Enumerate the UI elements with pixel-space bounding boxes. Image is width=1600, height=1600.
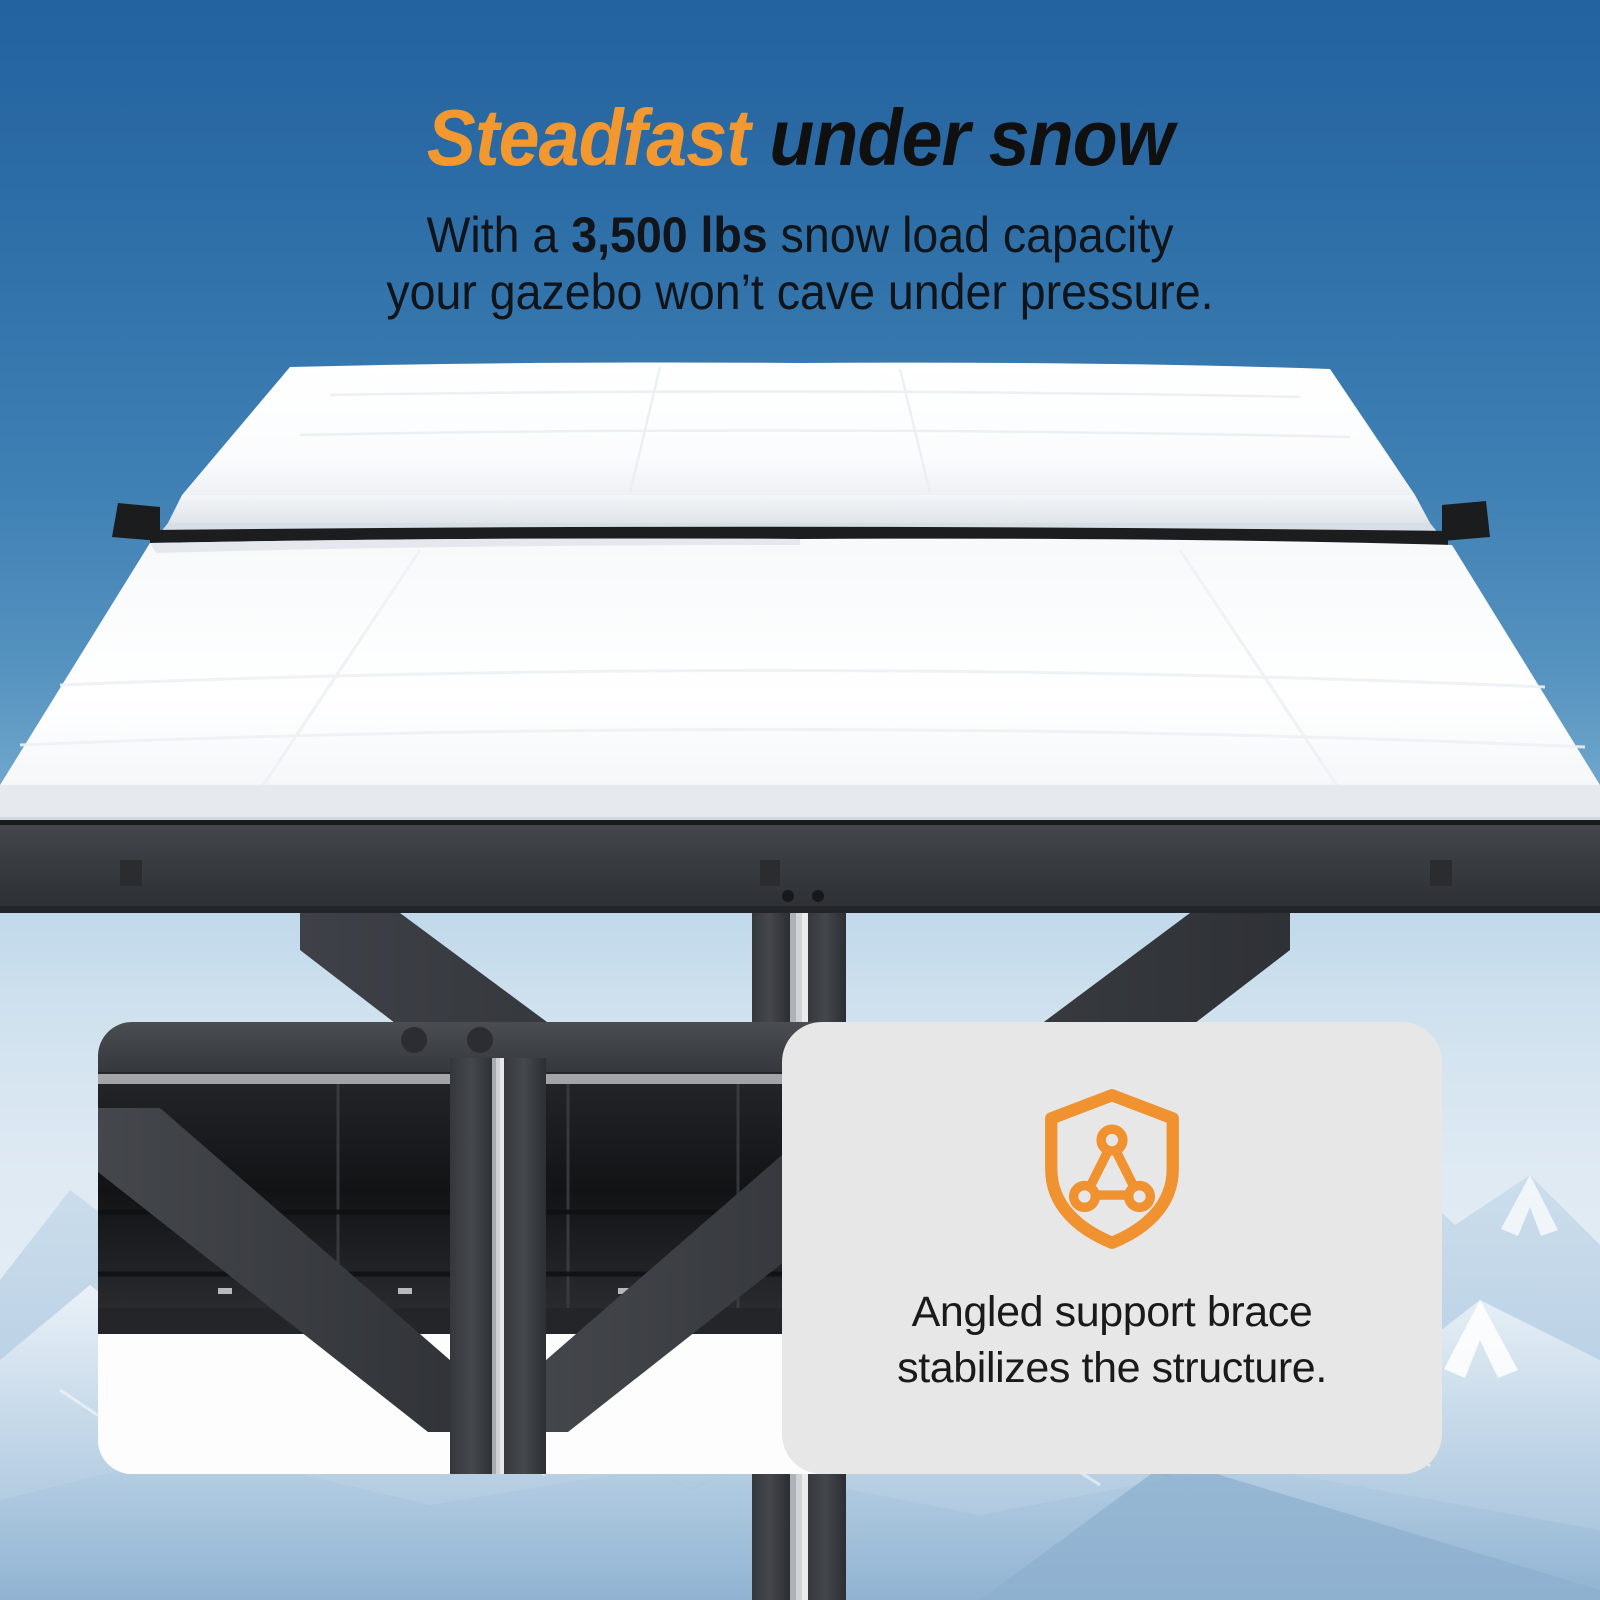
subtitle-line1-before: With a — [427, 207, 572, 263]
marketing-image-canvas: Angled support brace stabilizes the stru… — [0, 0, 1600, 1600]
subtitle-line-2: your gazebo won’t cave under pressure. — [56, 264, 1544, 321]
feature-card: Angled support brace stabilizes the stru… — [782, 1022, 1442, 1474]
gazebo-snow-roof — [0, 355, 1600, 895]
shield-triangle-brace-icon — [1039, 1088, 1185, 1250]
page-title: Steadfast under snow — [64, 92, 1536, 184]
inset-closeup-photo — [98, 1022, 898, 1474]
subtitle: With a 3,500 lbs snow load capacity your… — [56, 207, 1544, 321]
caption-line-1: Angled support brace — [897, 1284, 1327, 1340]
caption-line-2: stabilizes the structure. — [897, 1340, 1327, 1396]
headline-accent: Steadfast — [427, 93, 750, 182]
subtitle-line-1: With a 3,500 lbs snow load capacity — [56, 207, 1544, 264]
snow-load-value: 3,500 lbs — [571, 207, 767, 263]
headline-rest: under snow — [750, 93, 1173, 182]
subtitle-line1-after: snow load capacity — [768, 207, 1174, 263]
feature-card-caption: Angled support brace stabilizes the stru… — [897, 1284, 1327, 1396]
